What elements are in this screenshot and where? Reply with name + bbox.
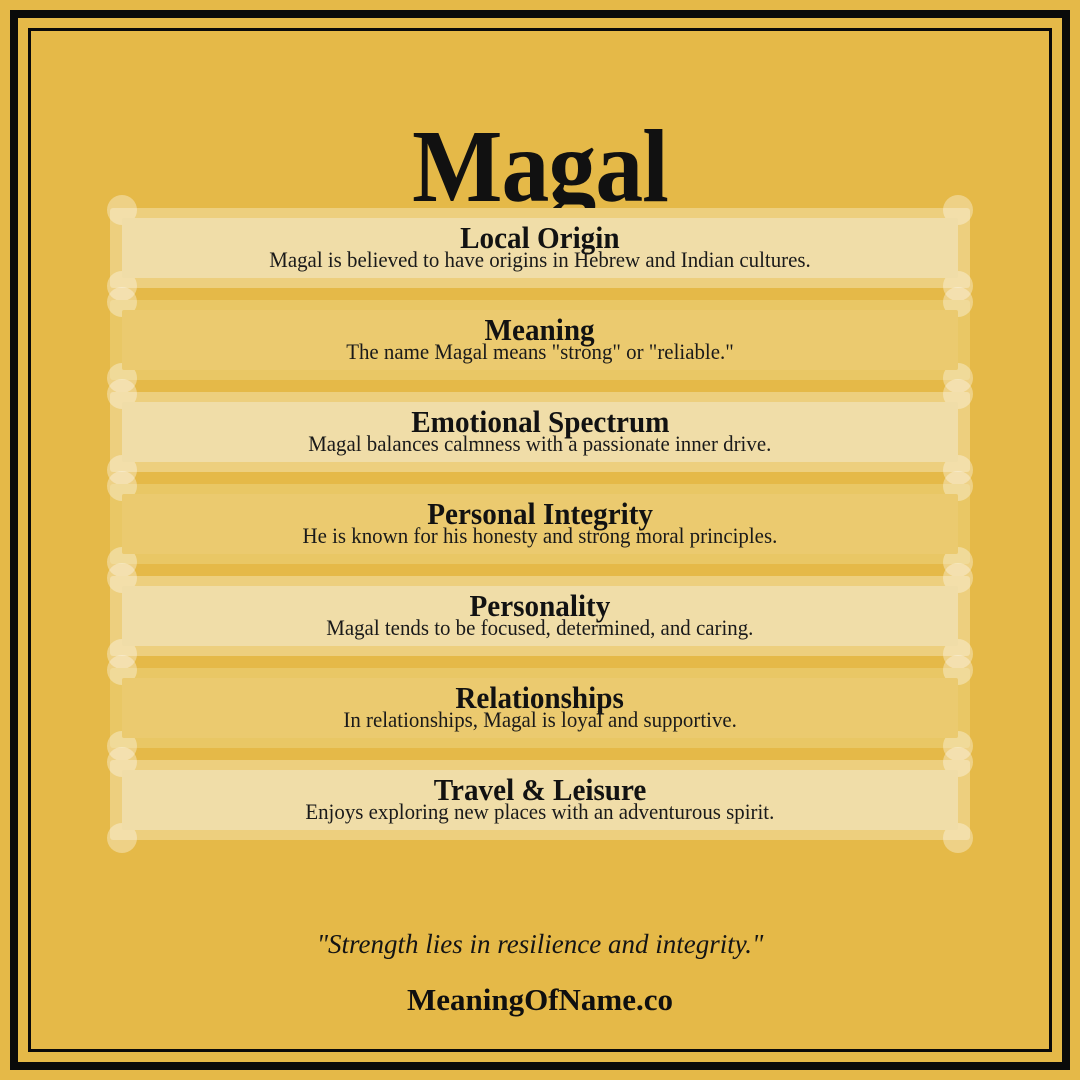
card-body: Magal balances calmness with a passionat… [308,432,771,456]
brand-name: MeaningOfName.co [0,982,1080,1018]
list-item: Local Origin Magal is believed to have o… [110,208,970,288]
list-item: Personality Magal tends to be focused, d… [110,576,970,656]
card-panel: Emotional Spectrum Magal balances calmne… [122,402,958,462]
card-body: Enjoys exploring new places with an adve… [305,800,774,824]
card-panel: Travel & Leisure Enjoys exploring new pl… [122,770,958,830]
card-body: He is known for his honesty and strong m… [303,524,778,548]
footer: "Strength lies in resilience and integri… [0,929,1080,1018]
card-panel: Local Origin Magal is believed to have o… [122,218,958,278]
attribute-card-list: Local Origin Magal is believed to have o… [110,208,970,852]
card-panel: Relationships In relationships, Magal is… [122,678,958,738]
list-item: Relationships In relationships, Magal is… [110,668,970,748]
card-body: In relationships, Magal is loyal and sup… [343,708,737,732]
name-meaning-poster: Magal Local Origin Magal is believed to … [0,0,1080,1080]
footer-quote: "Strength lies in resilience and integri… [0,929,1080,960]
list-item: Travel & Leisure Enjoys exploring new pl… [110,760,970,840]
card-body: Magal is believed to have origins in Heb… [269,248,811,272]
list-item: Emotional Spectrum Magal balances calmne… [110,392,970,472]
list-item: Personal Integrity He is known for his h… [110,484,970,564]
list-item: Meaning The name Magal means "strong" or… [110,300,970,380]
card-body: The name Magal means "strong" or "reliab… [346,340,734,364]
card-panel: Meaning The name Magal means "strong" or… [122,310,958,370]
card-panel: Personal Integrity He is known for his h… [122,494,958,554]
card-body: Magal tends to be focused, determined, a… [326,616,753,640]
card-panel: Personality Magal tends to be focused, d… [122,586,958,646]
